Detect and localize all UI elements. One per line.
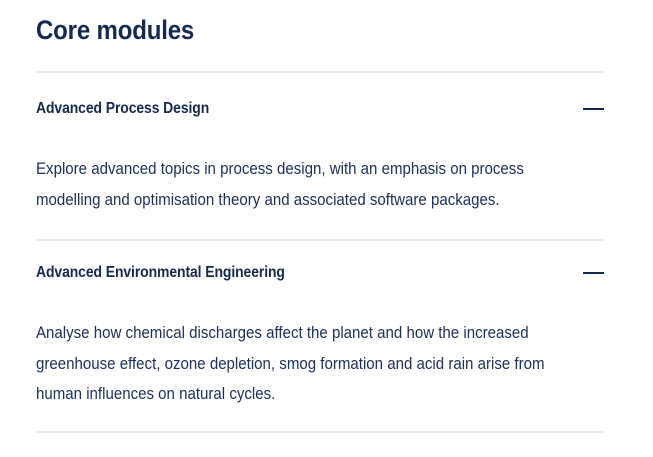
accordion-header-advanced-environmental-engineering[interactable]: Advanced Environmental Engineering bbox=[36, 263, 604, 285]
accordion-title-advanced-environmental-engineering: Advanced Environmental Engineering bbox=[36, 263, 285, 283]
page-title: Core modules bbox=[36, 13, 194, 47]
minus-icon[interactable] bbox=[583, 272, 604, 274]
accordion-title-advanced-process-design: Advanced Process Design bbox=[36, 99, 209, 119]
accordion-item-advanced-process-design: Advanced Process Design bbox=[36, 99, 604, 121]
accordion-header-advanced-process-design[interactable]: Advanced Process Design bbox=[36, 99, 604, 121]
accordion-body-advanced-environmental-engineering: Analyse how chemical discharges affect t… bbox=[36, 318, 594, 410]
accordion-body-advanced-process-design: Explore advanced topics in process desig… bbox=[36, 154, 588, 215]
accordion-item-advanced-environmental-engineering: Advanced Environmental Engineering bbox=[36, 263, 604, 285]
core-modules-panel: Core modules Advanced Process Design Exp… bbox=[0, 0, 653, 457]
minus-icon[interactable] bbox=[583, 108, 604, 110]
divider-middle bbox=[36, 239, 604, 241]
divider-top bbox=[36, 71, 604, 73]
divider-bottom bbox=[36, 431, 604, 433]
